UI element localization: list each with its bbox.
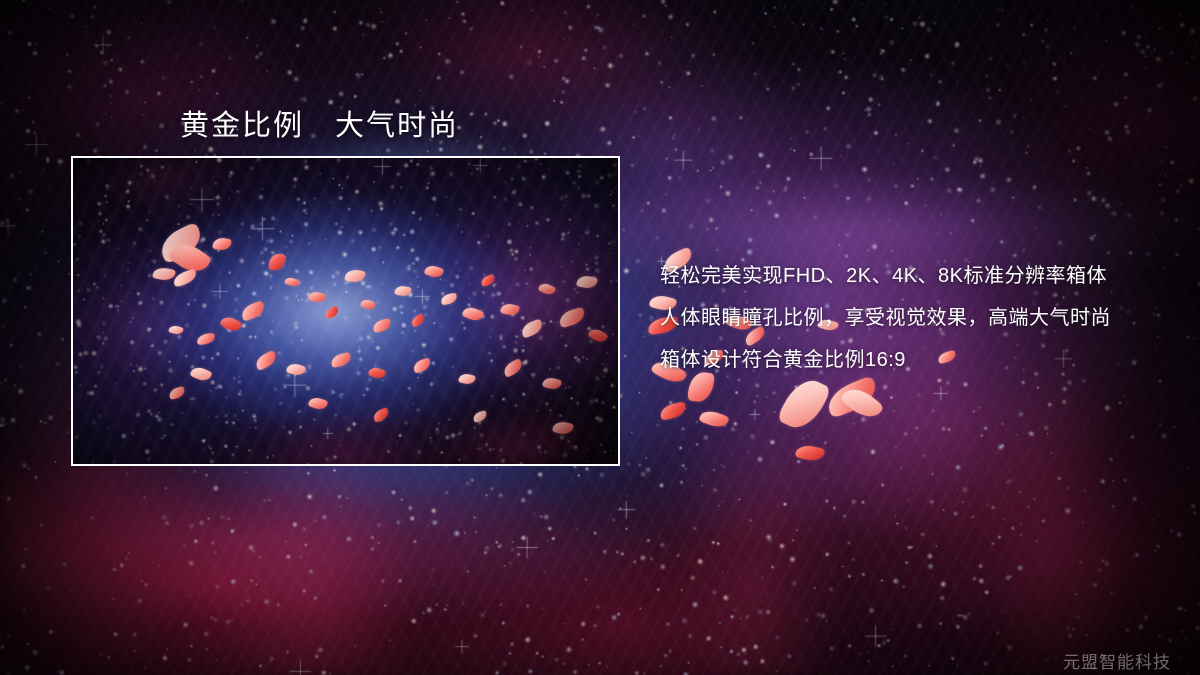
petal — [839, 382, 884, 424]
body-text-block: 轻松完美实现FHD、2K、4K、8K标准分辨率箱体 人体眼睛瞳孔比例，享受视觉效… — [660, 255, 1111, 381]
petal — [795, 443, 825, 463]
petal — [776, 373, 831, 436]
petal — [659, 401, 687, 420]
panel-vignette — [73, 158, 618, 464]
petal — [823, 375, 881, 419]
petal — [698, 408, 729, 431]
slide-canvas: 黄金比例 大气时尚 轻松完美实现FHD、2K、4K、8K标准分辨率箱体 人体眼睛… — [0, 0, 1200, 675]
body-line-2: 人体眼睛瞳孔比例，享受视觉效果，高端大气时尚 — [660, 297, 1111, 339]
framed-image-content — [73, 158, 618, 464]
body-line-1: 轻松完美实现FHD、2K、4K、8K标准分辨率箱体 — [660, 255, 1111, 297]
framed-image-panel[interactable] — [71, 156, 620, 466]
page-title: 黄金比例 大气时尚 — [180, 102, 459, 144]
body-line-3: 箱体设计符合黄金比例16:9 — [660, 339, 1111, 381]
watermark-label: 元盟智能科技 — [1063, 648, 1171, 673]
